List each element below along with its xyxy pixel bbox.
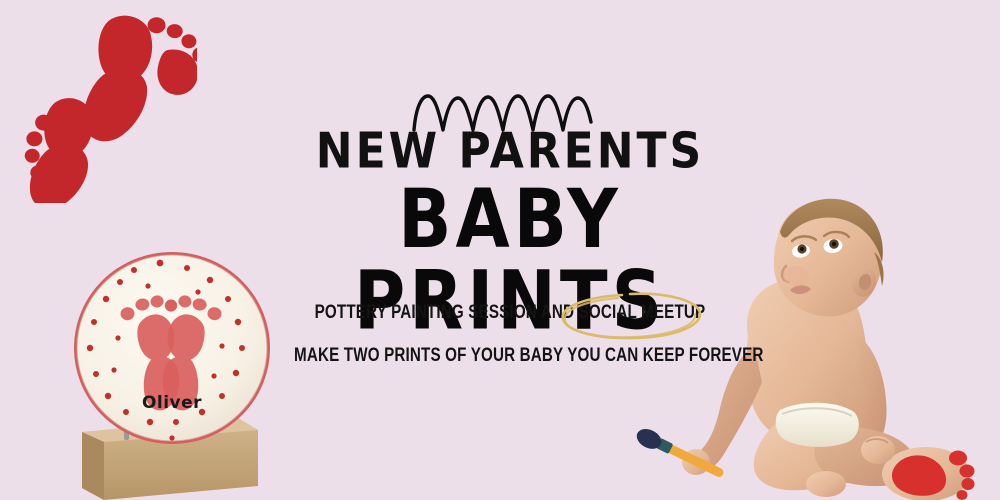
baby-left-foot (806, 471, 846, 497)
subtitle-line-2: MAKE TWO PRINTS OF YOUR BABY YOU CAN KEE… (294, 345, 726, 368)
baby-diaper (776, 403, 859, 447)
headline-block: NEW PARENTS BABY PRINTS (250, 86, 770, 330)
baby-footprints-logo (22, 8, 197, 203)
pottery-plate-photo: Oliver (62, 242, 282, 500)
baby-head (774, 199, 884, 317)
poster-canvas: Oliver (0, 0, 1000, 500)
subtitle-block: POTTERY PAINTING SESSION AND SOCIAL MEET… (240, 302, 780, 368)
subtitle-line-1: POTTERY PAINTING SESSION AND SOCIAL MEET… (294, 302, 726, 325)
baby-painted-foot (882, 447, 975, 500)
plate-name-text: Oliver (142, 393, 202, 413)
baby-right-hand (861, 436, 895, 464)
eyebrow-title: NEW PARENTS (250, 127, 770, 176)
